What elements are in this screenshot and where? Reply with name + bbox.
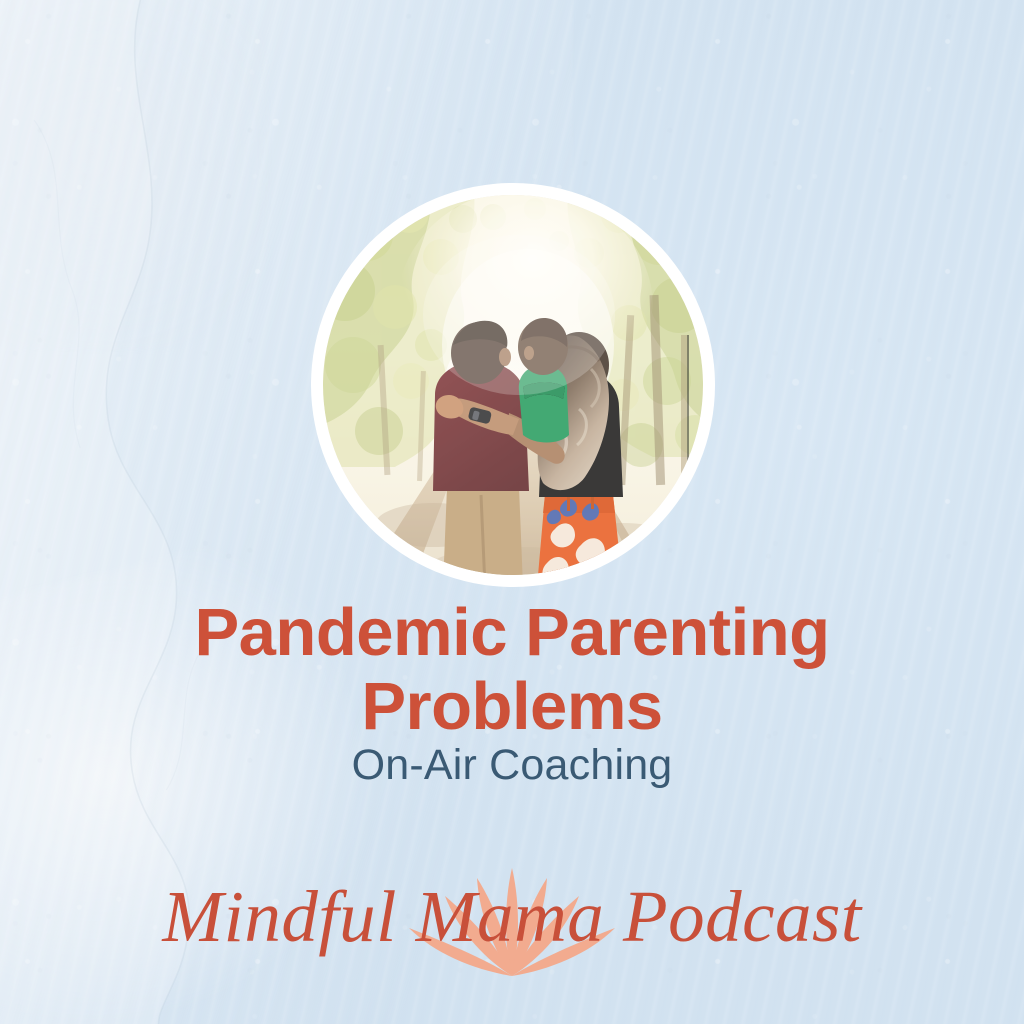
episode-title: Pandemic Parenting Problems — [0, 596, 1024, 744]
episode-artwork-photo — [311, 183, 715, 587]
brand-wordmark: Mindful Mama Podcast — [0, 874, 1024, 960]
episode-title-line-2: Problems — [0, 670, 1024, 744]
podcast-episode-cover: Pandemic Parenting Problems On-Air Coach… — [0, 0, 1024, 1024]
episode-title-line-1: Pandemic Parenting — [0, 596, 1024, 670]
episode-subtitle: On-Air Coaching — [0, 740, 1024, 790]
forest-family-illustration — [323, 195, 703, 575]
photo-clip-circle — [323, 195, 703, 575]
brand-lockup: Mindful Mama Podcast — [0, 850, 1024, 990]
